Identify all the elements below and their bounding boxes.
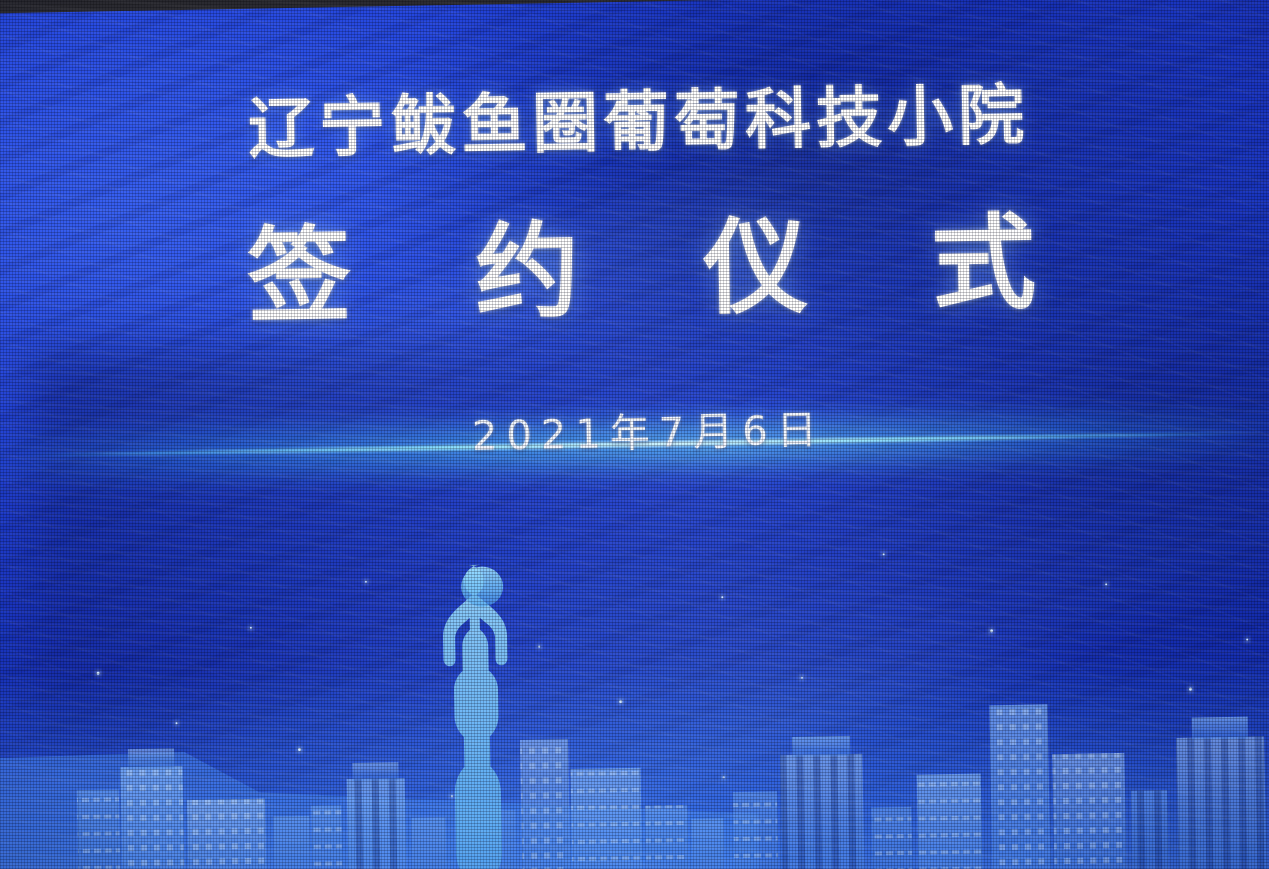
banner-text-block: 辽宁鲅鱼圈葡萄科技小院 签 约 仪 式 2021年7月6日: [0, 0, 1269, 466]
sparkle-star: [538, 646, 540, 648]
city-skyline: [0, 549, 1269, 869]
sparkle-star: [1105, 583, 1107, 585]
skyline-building-group-left-center: [310, 761, 446, 869]
sparkle-star: [619, 700, 622, 703]
banner-title: 辽宁鲅鱼圈葡萄科技小院: [0, 0, 1269, 168]
skyline-building-group-left: [76, 746, 311, 869]
sparkle-star: [298, 748, 301, 751]
sparkle-star: [883, 553, 885, 555]
sparkle-star: [451, 795, 453, 797]
skyline-building-group-right: [989, 699, 1269, 869]
sparkle-star: [801, 677, 803, 679]
led-screen-photo: 辽宁鲅鱼圈葡萄科技小院 签 约 仪 式 2021年7月6日: [0, 0, 1269, 869]
sparkle-star: [1246, 639, 1248, 641]
sparkle-star: [990, 629, 993, 632]
sparkle-star: [721, 596, 723, 598]
banner-date: 2021年7月6日: [0, 314, 1269, 467]
statue-sphere: [461, 566, 504, 607]
statue-monument: [442, 564, 518, 869]
skyline-building-group-right-center: [732, 734, 983, 869]
sparkle-star: [250, 627, 252, 629]
sparkle-star: [1189, 688, 1192, 691]
sparkle-star: [723, 776, 725, 778]
sparkle-star: [176, 722, 178, 724]
statue-silhouette: [442, 564, 513, 869]
sparkle-star: [97, 672, 100, 675]
banner-heading: 签 约 仪 式: [0, 143, 1269, 338]
skyline-building-group-center: [520, 736, 725, 869]
ground-glow: [0, 649, 1269, 869]
sparkle-star: [365, 581, 367, 583]
led-wall-panel: 辽宁鲅鱼圈葡萄科技小院 签 约 仪 式 2021年7月6日: [0, 0, 1269, 869]
ground-plane: [0, 700, 760, 869]
